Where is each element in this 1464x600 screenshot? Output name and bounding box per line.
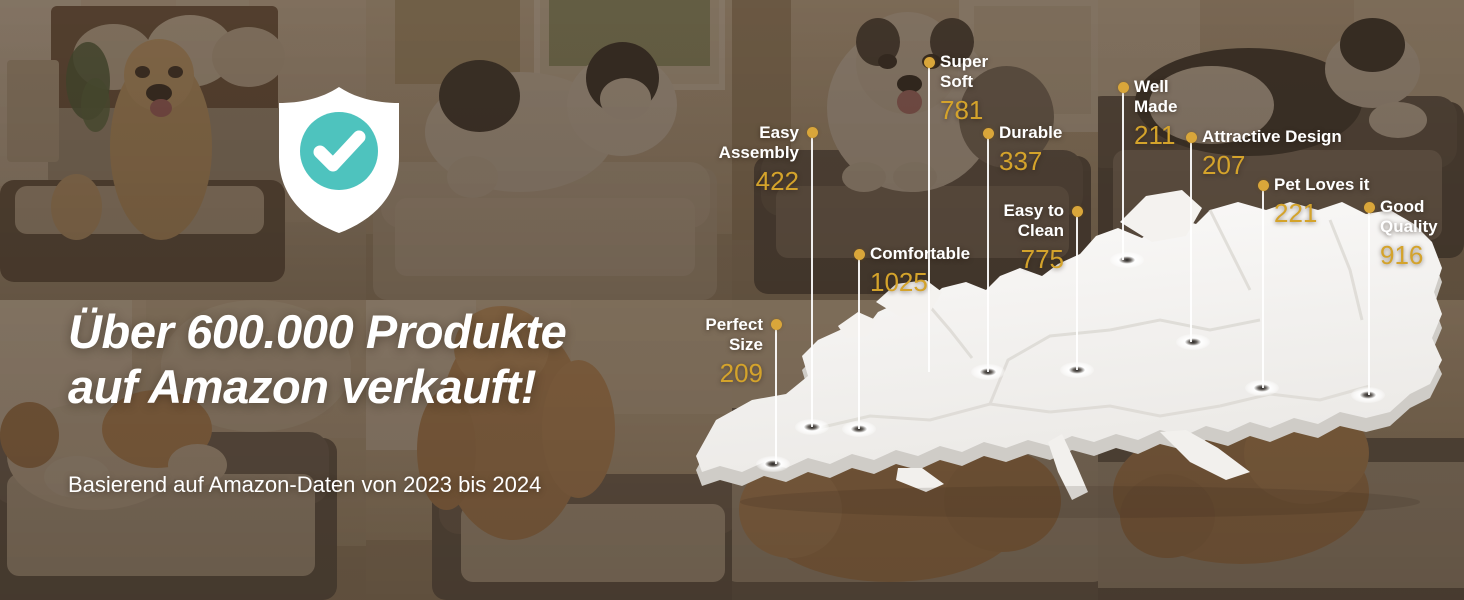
callout-label-line-1: Super (940, 52, 988, 72)
callout-dot (1258, 180, 1269, 191)
map-marker-dot (1176, 334, 1210, 350)
callout-value: 211 (1134, 119, 1177, 152)
callout-text: Pet Loves it 221 (1274, 175, 1369, 230)
callout-dot (924, 57, 935, 68)
map-top-surface (696, 190, 1442, 500)
callout-text: Good Quality 916 (1380, 197, 1438, 272)
callout-dot (771, 319, 782, 330)
headline-line-2: auf Amazon verkauft! (68, 360, 708, 415)
subtitle: Basierend auf Amazon-Daten von 2023 bis … (68, 472, 708, 498)
callout-label-line-1: Perfect (705, 315, 763, 335)
callout-label-line-1: Well (1134, 77, 1177, 97)
callout-dot (1364, 202, 1375, 213)
callout-value: 337 (999, 145, 1062, 178)
callout-dot (854, 249, 865, 260)
headline-block: Über 600.000 Produkte auf Amazon verkauf… (68, 305, 708, 498)
leader-line (811, 132, 813, 427)
callout-label-line-1: Easy to (1004, 201, 1064, 221)
leader-line (1076, 211, 1078, 370)
callout-value: 209 (705, 357, 763, 390)
leader-line (775, 324, 777, 464)
callout-text: Perfect Size 209 (705, 315, 763, 390)
callout-value: 781 (940, 94, 988, 127)
callout-label-line-2: Made (1134, 97, 1177, 117)
callout-text: Easy Assembly 422 (719, 123, 799, 198)
callout-label-line-1: Easy (719, 123, 799, 143)
leader-line (987, 133, 989, 372)
callout-dot (983, 128, 994, 139)
callout-text: Super Soft 781 (940, 52, 988, 127)
callout-value: 1025 (870, 266, 970, 299)
callout-dot (1118, 82, 1129, 93)
product-stats-banner: Über 600.000 Produkte auf Amazon verkauf… (0, 0, 1464, 600)
callout-label-line-2: Assembly (719, 143, 799, 163)
leader-line (1262, 185, 1264, 388)
leader-line (1122, 87, 1124, 260)
callout-dot (807, 127, 818, 138)
map-marker-dot (756, 456, 790, 472)
leader-line (1190, 137, 1192, 342)
callout-text: Comfortable 1025 (870, 244, 970, 299)
callout-dot (1072, 206, 1083, 217)
leader-line (858, 254, 860, 429)
callout-label-line-2: Clean (1004, 221, 1064, 241)
callout-label-line-2: Quality (1380, 217, 1438, 237)
callout-text: Attractive Design 207 (1202, 127, 1342, 182)
callout-value: 422 (719, 165, 799, 198)
callout-label-line-1: Comfortable (870, 244, 970, 264)
callout-dot (1186, 132, 1197, 143)
leader-line (928, 62, 930, 372)
callout-label-line-2: Soft (940, 72, 988, 92)
callout-label-line-2: Size (705, 335, 763, 355)
callout-value: 775 (1004, 243, 1064, 276)
callout-label-line-1: Attractive Design (1202, 127, 1342, 147)
callout-label-line-1: Durable (999, 123, 1062, 143)
callout-label-line-1: Good (1380, 197, 1438, 217)
callout-value: 916 (1380, 239, 1438, 272)
callout-value: 221 (1274, 197, 1369, 230)
map-marker-dot (1110, 252, 1144, 268)
shield-check-badge (273, 85, 405, 235)
photo-cell-2 (366, 0, 732, 300)
callout-text: Easy to Clean 775 (1004, 201, 1064, 276)
page-title: Über 600.000 Produkte auf Amazon verkauf… (68, 305, 708, 415)
leader-line (1368, 207, 1370, 395)
shield-icon (279, 87, 399, 233)
callout-text: Well Made 211 (1134, 77, 1177, 152)
callout-label-line-1: Pet Loves it (1274, 175, 1369, 195)
callout-text: Durable 337 (999, 123, 1062, 178)
headline-line-1: Über 600.000 Produkte (68, 305, 708, 360)
